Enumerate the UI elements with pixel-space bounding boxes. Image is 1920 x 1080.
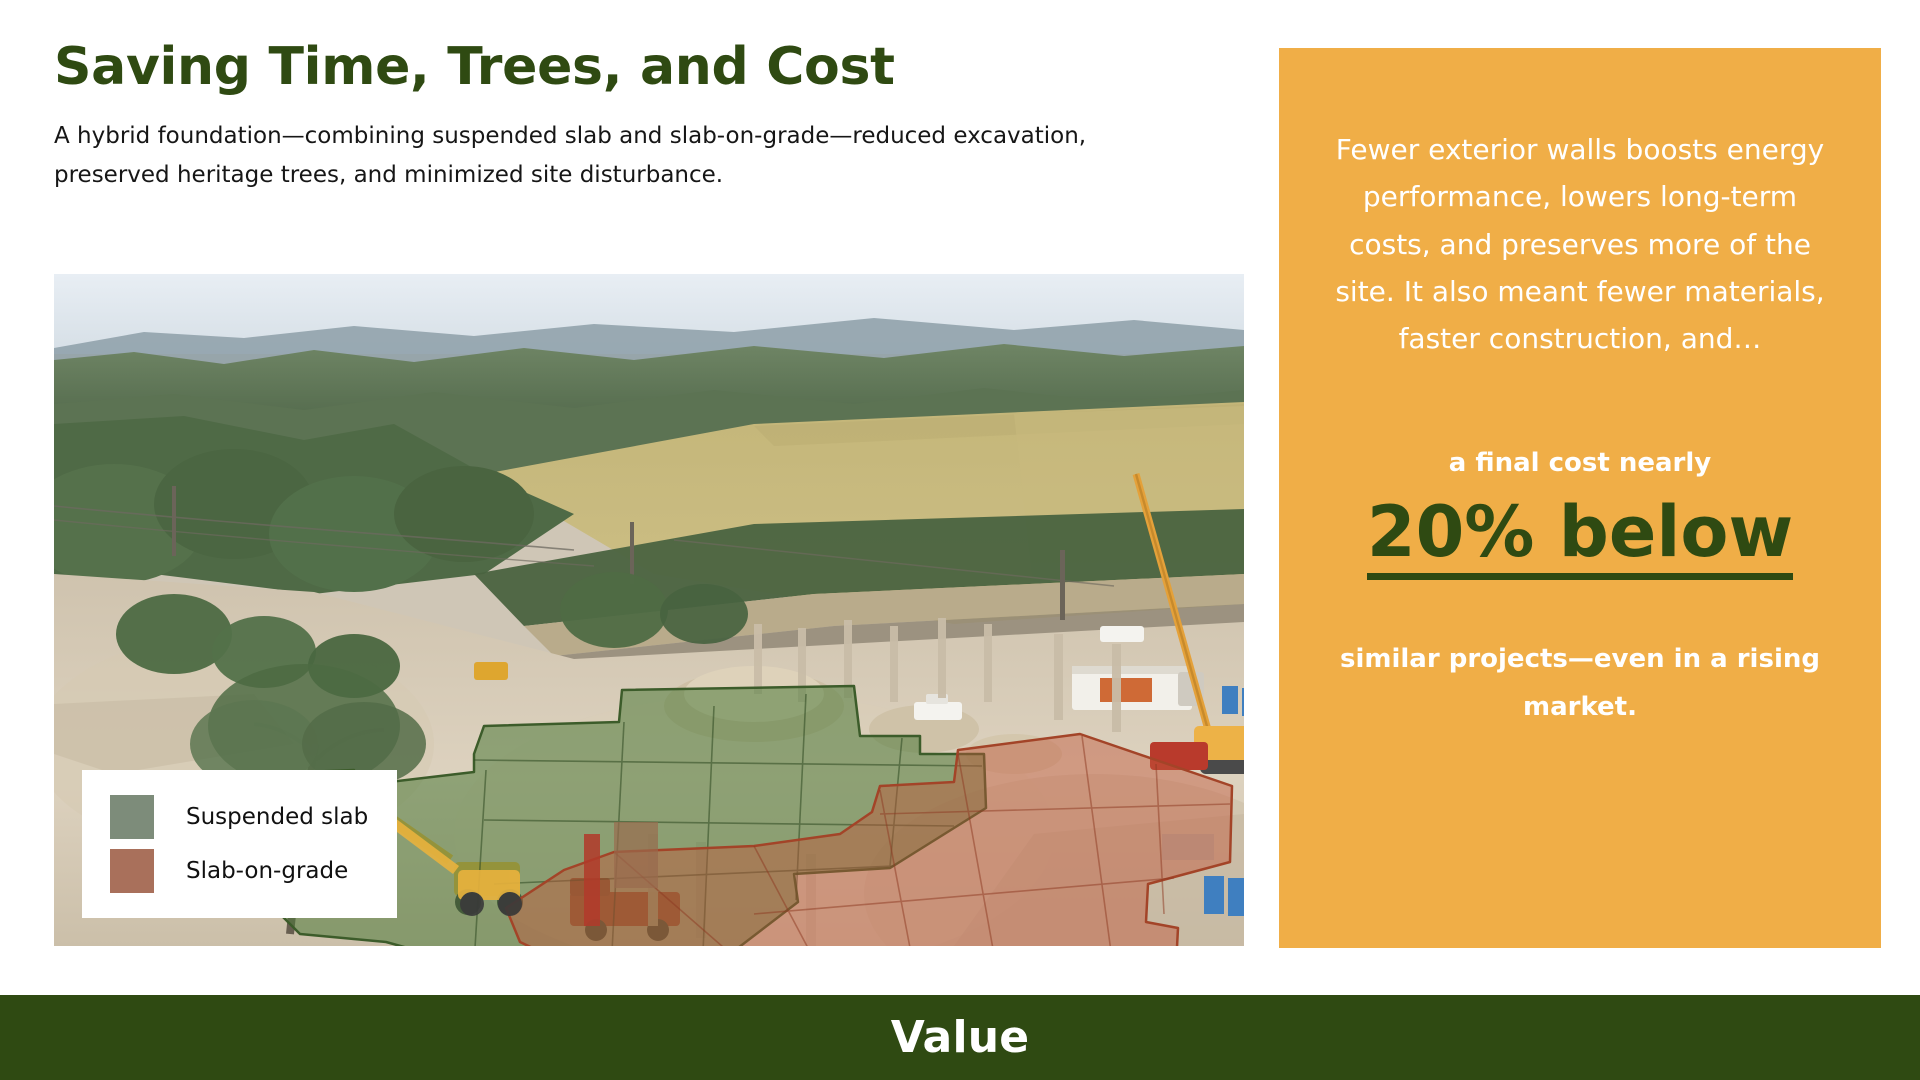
page-subtitle: A hybrid foundation—combining suspended … [54, 95, 1174, 196]
site-photo: Suspended slab Slab-on-grade [54, 274, 1244, 946]
section-banner-label: Value [891, 1012, 1030, 1063]
legend-swatch-slab-on-grade [110, 849, 154, 893]
legend-swatch-suspended-slab [110, 795, 154, 839]
slide-root: Saving Time, Trees, and Cost A hybrid fo… [0, 0, 1920, 1080]
legend-label-suspended-slab: Suspended slab [186, 804, 368, 830]
section-banner: Value [0, 995, 1920, 1080]
left-content-column: Saving Time, Trees, and Cost A hybrid fo… [54, 40, 1244, 196]
callout-outro: similar projects—even in a rising market… [1327, 636, 1833, 731]
callout-stat-wrap: 20% below [1327, 481, 1833, 580]
callout-body-text: Fewer exterior walls boosts energy perfo… [1327, 126, 1833, 363]
legend-item-suspended-slab: Suspended slab [110, 790, 397, 844]
callout-stat-value: 20% below [1367, 493, 1793, 580]
callout-kicker: a final cost nearly [1327, 445, 1833, 481]
callout-spacer [1327, 363, 1833, 445]
value-callout-panel: Fewer exterior walls boosts energy perfo… [1279, 48, 1881, 948]
legend-item-slab-on-grade: Slab-on-grade [110, 844, 397, 898]
page-title: Saving Time, Trees, and Cost [54, 40, 1244, 95]
map-legend: Suspended slab Slab-on-grade [82, 770, 397, 918]
legend-label-slab-on-grade: Slab-on-grade [186, 858, 348, 884]
